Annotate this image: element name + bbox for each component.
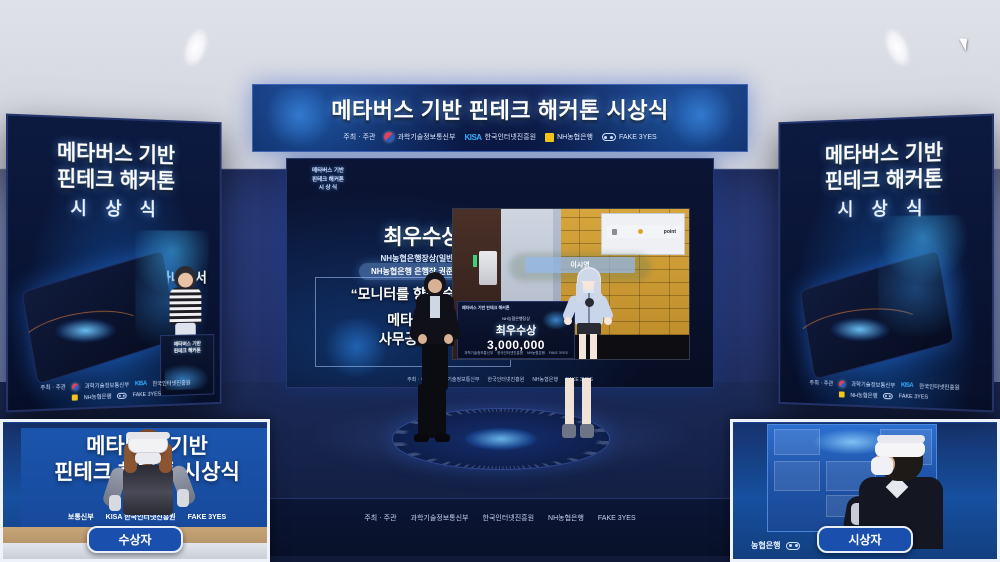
- wall-tile-2: [774, 461, 820, 491]
- ceiling-light-left: [180, 28, 212, 67]
- floor-sponsor-banner: 주최ㆍ주관 과학기술정보통신부 한국인터넷진흥원 NH농협은행 FAKE 3YE…: [262, 498, 738, 556]
- coin-icon: [638, 229, 643, 234]
- taegeuk-icon: [384, 132, 394, 142]
- avatar-leg-left: [579, 334, 586, 359]
- recipient-leg-left: [565, 378, 574, 428]
- game-door-panel: [479, 251, 497, 285]
- in-game-poster-logos: 과학기술정보통신부 한국인터넷진흥원 NH농협은행 FAKE 3YES: [458, 351, 574, 356]
- main-stage-banner: 메타버스 기반 핀테크 해커톤 시상식 주최ㆍ주관 과학기술정보통신부 KISA…: [252, 84, 748, 152]
- recipient-boot-left: [562, 424, 576, 438]
- stage-presenter-legs: [412, 384, 452, 444]
- nh-mark-icon-small-r: [839, 391, 845, 397]
- presentation-corner-logo: 메타버스 기반 핀테크 해커톤 시 상 식: [301, 167, 355, 193]
- taegeuk-icon-small: [72, 383, 79, 390]
- lock-icon: [612, 229, 617, 235]
- nh-mark-icon: [545, 133, 554, 142]
- nh-mark-icon-small: [72, 394, 78, 400]
- main-banner-sponsor-row: 주최ㆍ주관 과학기술정보통신부 KISA 한국인터넷진흥원 NH농협은행 FAK…: [253, 132, 747, 142]
- sponsor-fake3yes: FAKE 3YES: [602, 133, 657, 141]
- game-avatar[interactable]: [565, 267, 611, 359]
- vr-wireframe-figure-right: [878, 215, 969, 338]
- vr-controller-right-icon: [177, 489, 189, 507]
- vr-headset-strap: [126, 432, 170, 439]
- presenter-nh-logo: 농협은행: [751, 540, 800, 551]
- main-banner-title: 메타버스 기반 핀테크 해커톤 시상식: [253, 93, 747, 125]
- webcam-panel-presenter[interactable]: 농협은행 시상자: [730, 419, 1000, 562]
- goggles-icon-small: [117, 393, 127, 399]
- sponsor-ministry: 과학기술정보통신부: [384, 132, 455, 142]
- sponsor-nh: NH농협은행: [545, 132, 593, 142]
- side-banner-left-title: 메타버스 기반 핀테크 해커톤: [8, 138, 220, 195]
- presenter-shoe-right: [435, 434, 450, 442]
- side-banner-left-subtitle: 시 상 식: [8, 193, 220, 222]
- goggles-icon: [602, 133, 616, 141]
- presenter-vr-headset-icon: [875, 441, 925, 457]
- floor-sponsor-row: 주최ㆍ주관 과학기술정보통신부 한국인터넷진흥원 NH농협은행 FAKE 3YE…: [262, 513, 738, 523]
- goggles-icon-cam: [786, 542, 800, 550]
- avatar-hand-right: [604, 317, 612, 325]
- side-banner-right-title: 메타버스 기반 핀테크 해커톤: [780, 138, 992, 195]
- recipient-role-label: 수상자: [87, 526, 183, 553]
- sponsor-kisa: KISA 한국인터넷진흥원: [464, 132, 536, 142]
- presenter-role-label: 시상자: [817, 526, 913, 553]
- ceiling-light-right: [880, 28, 914, 67]
- metaverse-award-ceremony-scene: 메타버스 기반 핀테크 해커톤 시상식 주최ㆍ주관 과학기술정보통신부 KISA…: [0, 0, 1000, 562]
- avatar-chest-logo: [585, 298, 594, 307]
- face-mask-icon: [135, 452, 161, 464]
- avatar-hair-right: [594, 281, 601, 303]
- recipient-leg-right: [582, 378, 591, 428]
- sponsor-host-label: 주최ㆍ주관: [343, 132, 375, 142]
- vr-controller-left-icon: [109, 495, 121, 511]
- point-label: point: [664, 229, 676, 235]
- side-banner-left: 메타버스 기반 핀테크 해커톤 시 상 식 김성 아나운서 메타버스 기반 핀테…: [6, 114, 222, 413]
- side-banner-right: 메타버스 기반 핀테크 해커톤 시 상 식 주최ㆍ주관 과학기술정보통신부 KI…: [778, 114, 994, 413]
- presentation-sponsor-row: 주최ㆍ주관 과학기술정보통신부 한국인터넷진흥원 NH농협은행 FAKE 3YE…: [287, 376, 713, 383]
- speaker-hand-left: [418, 334, 427, 344]
- avatar-hair-left: [576, 281, 583, 303]
- announcer-body: [170, 287, 202, 325]
- presenter-face-mask-icon: [871, 457, 893, 475]
- presenter-legs: [418, 384, 446, 438]
- kisa-mark-icon-small: KISA: [135, 381, 147, 387]
- stage-speaker-avatar: [414, 272, 456, 390]
- avatar-hand-left: [564, 317, 572, 325]
- avatar-leg-right: [590, 334, 597, 359]
- stage-recipient-legs: [560, 378, 596, 444]
- mini-poster-title: 메타버스 기반 핀테크 해커톤: [161, 341, 213, 356]
- recipient-boot-right: [580, 424, 594, 438]
- in-game-award-poster: 메타버스 기반 핀테크 해커톤 NH농협은행장상 최우수상 3,000,000 …: [457, 301, 575, 359]
- speaker-shirt: [430, 296, 440, 318]
- wall-tile-1: [774, 429, 820, 455]
- announcer-face: [178, 273, 193, 288]
- in-game-poster-amount: 3,000,000: [458, 338, 574, 352]
- taegeuk-icon-small-r: [839, 380, 846, 387]
- presenter-shoe-left: [414, 434, 429, 442]
- game-capture-screen: point 이시영 메타버스 기반 핀테크 해커톤 NH농협은행장상 최우수: [452, 208, 690, 360]
- game-point-bar[interactable]: point: [607, 225, 681, 238]
- kisa-mark-icon: KISA: [464, 133, 481, 142]
- speaker-hand-right: [444, 334, 453, 344]
- presenter-vr-headset-strap: [877, 435, 925, 443]
- kisa-mark-icon-small-r: KISA: [901, 383, 913, 389]
- speaker-face: [428, 279, 442, 293]
- game-green-indicator: [473, 255, 477, 267]
- platform-hologram-core: [465, 428, 537, 450]
- side-banner-right-sponsors: 주최ㆍ주관 과학기술정보통신부 KISA 한국인터넷진흥원 NH농협은행 FAK…: [780, 378, 992, 404]
- goggles-icon-small-r: [883, 393, 893, 399]
- webcam-panel-recipient[interactable]: 메타버스 기반 핀테크 해커톤 시상식 보통신부 KISA 한국인터넷진흥원 F…: [0, 419, 270, 562]
